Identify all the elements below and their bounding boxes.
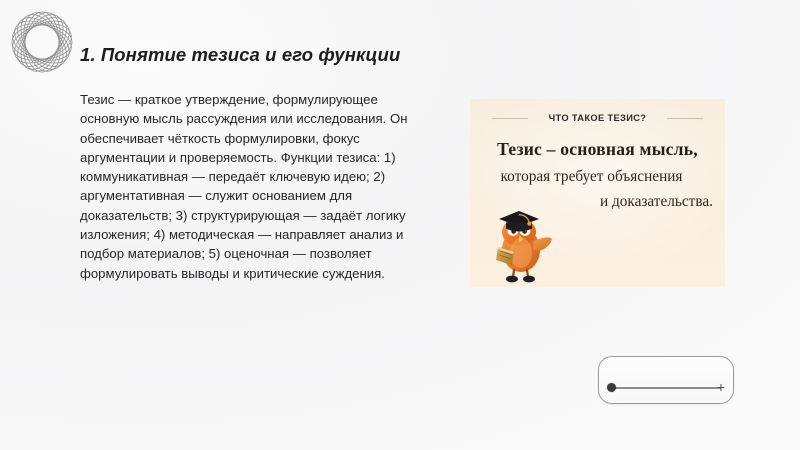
zoom-slider-track[interactable] xyxy=(611,387,721,389)
zoom-slider[interactable]: + xyxy=(598,356,734,404)
owl-graduate-icon xyxy=(484,201,562,285)
card-kicker-label: ЧТО ТАКОЕ ТЕЗИС? xyxy=(470,113,725,123)
card-headline-line-1: Тезис – основная мысль, xyxy=(470,139,725,160)
spirograph-ornament-icon xyxy=(4,4,80,80)
zoom-slider-handle[interactable] xyxy=(607,383,616,392)
page-title: 1. Понятие тезиса и его функции xyxy=(80,44,400,66)
slide-canvas: 1. Понятие тезиса и его функции Тезис — … xyxy=(0,0,800,450)
body-paragraph: Тезис — краткое утверждение, формулирующ… xyxy=(80,90,430,283)
zoom-in-icon[interactable]: + xyxy=(715,379,727,395)
card-headline-line-2: которая требует объяснения xyxy=(470,168,713,186)
illustration-card: ЧТО ТАКОЕ ТЕЗИС? Тезис – основная мысль,… xyxy=(470,99,725,287)
